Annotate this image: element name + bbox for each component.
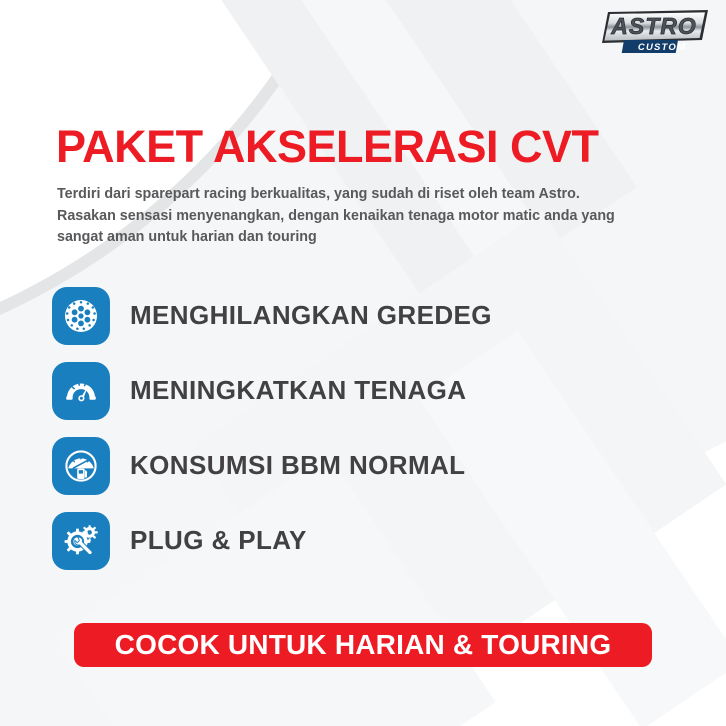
svg-text:CUSTOM: CUSTOM (638, 42, 686, 53)
feature-item-menghilangkan-gredeg: MENGHILANGKAN GREDEG (52, 278, 612, 353)
page-title: PAKET AKSELERASI CVT (56, 124, 599, 169)
bottom-banner-text: COCOK UNTUK HARIAN & TOURING (115, 629, 612, 661)
feature-item-plug-and-play: PLUG & PLAY (52, 503, 612, 578)
feature-label: MENINGKATKAN TENAGA (130, 375, 466, 406)
gear-wrench-icon-tile (52, 512, 110, 570)
feature-label: KONSUMSI BBM NORMAL (130, 450, 465, 481)
bottom-banner: COCOK UNTUK HARIAN & TOURING (74, 623, 652, 667)
promo-poster: ASTRO CUSTOM PAKET AKSELERASI CVT Terdir… (0, 0, 726, 726)
speedometer-icon-tile (52, 362, 110, 420)
astro-logo: ASTRO CUSTOM (592, 6, 712, 62)
feature-item-konsumsi-bbm-normal: KONSUMSI BBM NORMAL (52, 428, 612, 503)
clutch-bell-icon (61, 296, 101, 336)
feature-item-meningkatkan-tenaga: MENINGKATKAN TENAGA (52, 353, 612, 428)
description-text: Terdiri dari sparepart racing berkualita… (57, 184, 617, 249)
feature-label: MENGHILANGKAN GREDEG (130, 300, 492, 331)
speedometer-icon (61, 371, 101, 411)
gear-wrench-icon (61, 521, 101, 561)
clutch-bell-icon-tile (52, 287, 110, 345)
fuel-gauge-icon-tile (52, 437, 110, 495)
feature-label: PLUG & PLAY (130, 525, 307, 556)
svg-text:ASTRO: ASTRO (610, 13, 697, 39)
astro-logo-icon: ASTRO CUSTOM (592, 6, 712, 62)
feature-list: MENGHILANGKAN GREDEG MEN (52, 278, 612, 578)
fuel-gauge-icon (61, 446, 101, 486)
